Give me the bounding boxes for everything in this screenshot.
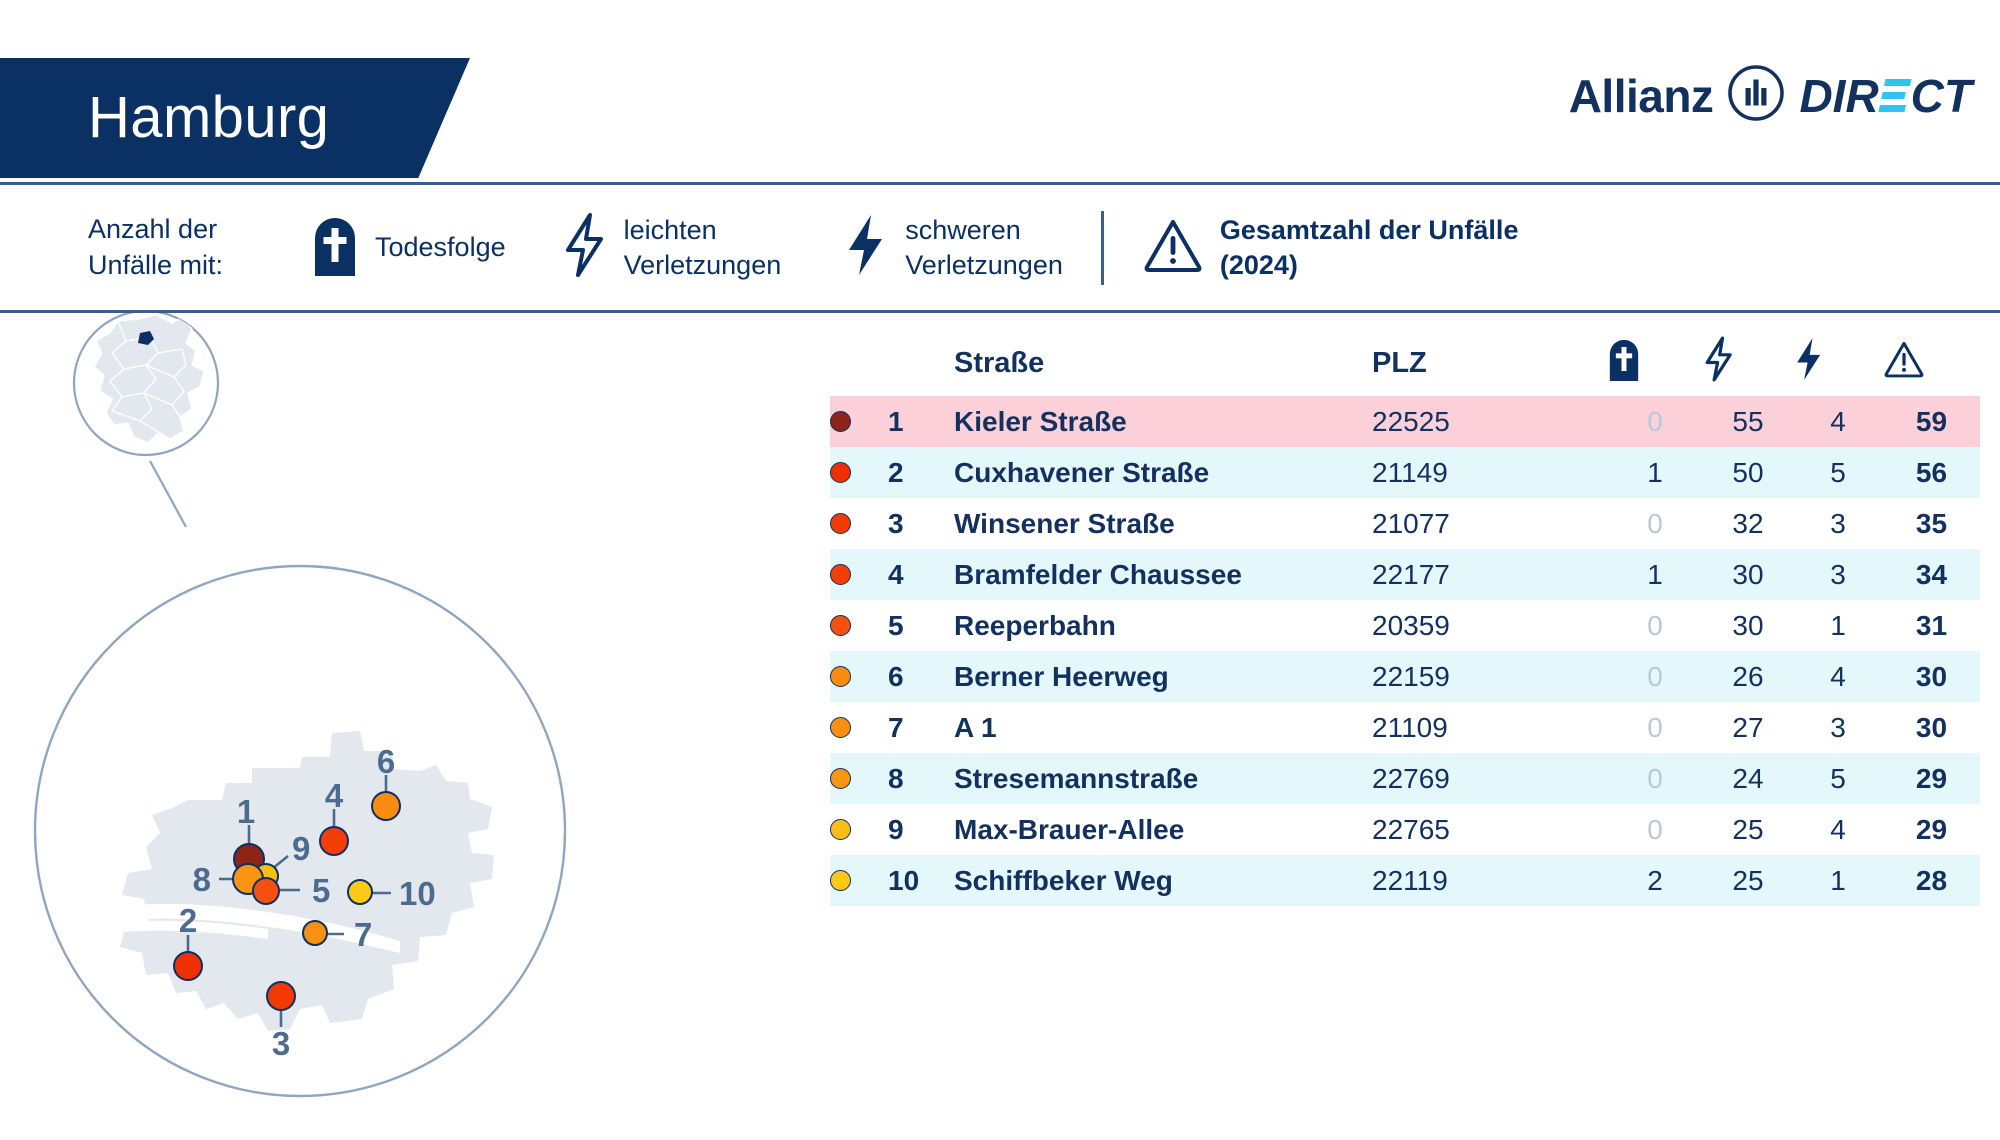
table-header-row: Straße PLZ [830, 330, 1980, 396]
total-count: 31 [1883, 600, 1980, 651]
legend-total-line2: (2024) [1220, 248, 1519, 283]
legend-bar: Anzahl der Unfälle mit: Todesfolge leich… [0, 185, 2000, 310]
header-plz: PLZ [1372, 330, 1607, 396]
street-name: Schiffbeker Weg [954, 855, 1372, 906]
table-row[interactable]: 10Schiffbeker Weg22119225128 [830, 855, 1980, 906]
deaths-count: 0 [1607, 498, 1703, 549]
light-injuries-count: 24 [1703, 753, 1793, 804]
table-row[interactable]: 2Cuxhavener Straße21149150556 [830, 447, 1980, 498]
total-count: 30 [1883, 702, 1980, 753]
severe-injuries-count: 5 [1793, 447, 1883, 498]
warning-triangle-icon [1142, 216, 1204, 279]
total-count: 35 [1883, 498, 1980, 549]
light-injuries-count: 50 [1703, 447, 1793, 498]
legend-item-light-injuries: leichten Verletzungen [562, 212, 782, 283]
light-injuries-count: 30 [1703, 600, 1793, 651]
rank-color-dot [830, 819, 851, 840]
table-row[interactable]: 5Reeperbahn20359030131 [830, 600, 1980, 651]
severe-injuries-count: 4 [1793, 651, 1883, 702]
inset-connector-line [150, 461, 186, 527]
table-row[interactable]: 6Berner Heerweg22159026430 [830, 651, 1980, 702]
street-name: A 1 [954, 702, 1372, 753]
table-row[interactable]: 4Bramfelder Chaussee22177130334 [830, 549, 1980, 600]
rank-color-dot [830, 666, 851, 687]
street-name: Kieler Straße [954, 396, 1372, 447]
postal-code: 21109 [1372, 702, 1607, 753]
street-name: Stresemannstraße [954, 753, 1372, 804]
street-name: Bramfelder Chaussee [954, 549, 1372, 600]
rank-number: 9 [888, 804, 954, 855]
map-marker-2[interactable] [174, 952, 202, 980]
total-count: 29 [1883, 804, 1980, 855]
map-panel: 1 2 3 4 5 6 7 8 9 10 [0, 313, 780, 1140]
light-injuries-count: 26 [1703, 651, 1793, 702]
legend-divider [1101, 211, 1104, 285]
header-street: Straße [954, 330, 1372, 396]
severe-injuries-count: 3 [1793, 498, 1883, 549]
map-label-8: 8 [193, 861, 211, 898]
rank-color-dot [830, 513, 851, 534]
rank-color-dot [830, 462, 851, 483]
table-row[interactable]: 8Stresemannstraße22769024529 [830, 753, 1980, 804]
rank-color-dot-cell [830, 600, 888, 651]
legend-item-deaths: Todesfolge [311, 214, 506, 281]
total-count: 56 [1883, 447, 1980, 498]
light-injuries-count: 32 [1703, 498, 1793, 549]
street-name: Cuxhavener Straße [954, 447, 1372, 498]
total-count: 34 [1883, 549, 1980, 600]
postal-code: 22119 [1372, 855, 1607, 906]
rank-color-dot-cell [830, 702, 888, 753]
light-injuries-count: 55 [1703, 396, 1793, 447]
bolt-outline-icon [1703, 336, 1735, 382]
legend-label-severe-injuries: schweren Verletzungen [905, 213, 1063, 282]
map-marker-6[interactable] [372, 792, 400, 820]
postal-code: 20359 [1372, 600, 1607, 651]
bolt-outline-icon [562, 212, 608, 283]
brand-direct-part2: CT [1911, 73, 1972, 119]
street-name: Reeperbahn [954, 600, 1372, 651]
postal-code: 22525 [1372, 396, 1607, 447]
rank-color-dot-cell [830, 804, 888, 855]
legend-severe-line1: schweren [905, 213, 1063, 248]
street-name: Berner Heerweg [954, 651, 1372, 702]
page-title: Hamburg [0, 89, 329, 147]
map-marker-4[interactable] [320, 827, 348, 855]
bolt-filled-icon [843, 212, 889, 283]
postal-code: 22177 [1372, 549, 1607, 600]
accident-ranking-table: Straße PLZ [830, 330, 1980, 906]
map-label-2: 2 [179, 902, 197, 939]
street-name: Winsener Straße [954, 498, 1372, 549]
rank-number: 7 [888, 702, 954, 753]
brand-direct-text: DIR CT [1799, 73, 1972, 119]
total-count: 59 [1883, 396, 1980, 447]
bolt-filled-icon [1793, 336, 1825, 382]
deaths-count: 0 [1607, 396, 1703, 447]
rank-number: 1 [888, 396, 954, 447]
table-row[interactable]: 9Max-Brauer-Allee22765025429 [830, 804, 1980, 855]
map-label-9: 9 [292, 830, 310, 867]
postal-code: 22765 [1372, 804, 1607, 855]
table-row[interactable]: 7A 121109027330 [830, 702, 1980, 753]
rank-color-dot [830, 870, 851, 891]
rank-color-dot [830, 768, 851, 789]
legend-total-line1: Gesamtzahl der Unfälle [1220, 213, 1519, 248]
deaths-count: 0 [1607, 600, 1703, 651]
severe-injuries-count: 5 [1793, 753, 1883, 804]
rank-number: 5 [888, 600, 954, 651]
header-severe-injuries [1793, 330, 1883, 396]
rank-color-dot [830, 411, 851, 432]
rank-color-dot [830, 564, 851, 585]
rank-number: 3 [888, 498, 954, 549]
street-name: Max-Brauer-Allee [954, 804, 1372, 855]
rank-color-dot-cell [830, 855, 888, 906]
total-count: 28 [1883, 855, 1980, 906]
tombstone-icon [311, 214, 359, 281]
rank-number: 6 [888, 651, 954, 702]
legend-intro: Anzahl der Unfälle mit: [88, 212, 303, 282]
header-rank-spacer [888, 330, 954, 396]
map-marker-7[interactable] [303, 921, 327, 945]
severe-injuries-count: 3 [1793, 702, 1883, 753]
map-label-3: 3 [272, 1025, 290, 1062]
rank-number: 8 [888, 753, 954, 804]
rank-color-dot [830, 615, 851, 636]
deaths-count: 2 [1607, 855, 1703, 906]
allianz-emblem-icon [1727, 64, 1785, 127]
postal-code: 22769 [1372, 753, 1607, 804]
legend-intro-line1: Anzahl der [88, 212, 303, 247]
legend-severe-line2: Verletzungen [905, 248, 1063, 283]
severe-injuries-count: 1 [1793, 855, 1883, 906]
allianz-direct-logo: Allianz DIR CT [1569, 64, 1972, 127]
tombstone-icon [1607, 337, 1641, 381]
deaths-count: 1 [1607, 549, 1703, 600]
legend-label-deaths: Todesfolge [375, 230, 506, 265]
map-label-1: 1 [237, 793, 255, 830]
rank-color-dot-cell [830, 447, 888, 498]
map-marker-10[interactable] [348, 880, 372, 904]
page-header: Hamburg Allianz DIR CT [0, 0, 2000, 185]
light-injuries-count: 27 [1703, 702, 1793, 753]
rank-number: 4 [888, 549, 954, 600]
deaths-count: 1 [1607, 447, 1703, 498]
ranking-table-panel: Straße PLZ [830, 330, 1980, 906]
map-marker-3[interactable] [267, 982, 295, 1010]
table-row[interactable]: 1Kieler Straße22525055459 [830, 396, 1980, 447]
legend-item-severe-injuries: schweren Verletzungen [843, 212, 1063, 283]
rank-number: 2 [888, 447, 954, 498]
severe-injuries-count: 4 [1793, 804, 1883, 855]
header-light-injuries [1703, 330, 1793, 396]
brand-direct-e-icon [1878, 79, 1911, 112]
header-total [1883, 330, 1980, 396]
map-label-7: 7 [354, 916, 372, 953]
total-count: 29 [1883, 753, 1980, 804]
germany-inset [74, 313, 218, 455]
legend-item-total: Gesamtzahl der Unfälle (2024) [1142, 213, 1519, 282]
light-injuries-count: 30 [1703, 549, 1793, 600]
legend-light-line1: leichten [624, 213, 782, 248]
legend-label-total: Gesamtzahl der Unfälle (2024) [1220, 213, 1519, 282]
postal-code: 21149 [1372, 447, 1607, 498]
map-label-4: 4 [325, 777, 344, 814]
legend-label-light-injuries: leichten Verletzungen [624, 213, 782, 282]
rank-color-dot-cell [830, 396, 888, 447]
severe-injuries-count: 4 [1793, 396, 1883, 447]
rank-number: 10 [888, 855, 954, 906]
map-label-6: 6 [377, 743, 395, 780]
deaths-count: 0 [1607, 753, 1703, 804]
postal-code: 21077 [1372, 498, 1607, 549]
header-deaths [1607, 330, 1703, 396]
rank-color-dot [830, 717, 851, 738]
light-injuries-count: 25 [1703, 804, 1793, 855]
brand-allianz-text: Allianz [1569, 73, 1714, 119]
postal-code: 22159 [1372, 651, 1607, 702]
severe-injuries-count: 1 [1793, 600, 1883, 651]
legend-intro-line2: Unfälle mit: [88, 248, 303, 283]
total-count: 30 [1883, 651, 1980, 702]
header-dot-spacer [830, 330, 888, 396]
brand-direct-part1: DIR [1799, 73, 1878, 119]
legend-light-line2: Verletzungen [624, 248, 782, 283]
region-banner: Hamburg [0, 58, 470, 178]
map-marker-5[interactable] [253, 878, 279, 904]
rank-color-dot-cell [830, 498, 888, 549]
deaths-count: 0 [1607, 651, 1703, 702]
hamburg-map: 1 2 3 4 5 6 7 8 9 10 [0, 313, 780, 1140]
table-row[interactable]: 3Winsener Straße21077032335 [830, 498, 1980, 549]
warning-triangle-icon [1883, 339, 1925, 379]
rank-color-dot-cell [830, 651, 888, 702]
rank-color-dot-cell [830, 753, 888, 804]
map-label-10: 10 [399, 875, 436, 912]
deaths-count: 0 [1607, 702, 1703, 753]
map-label-5: 5 [312, 872, 330, 909]
deaths-count: 0 [1607, 804, 1703, 855]
rank-color-dot-cell [830, 549, 888, 600]
severe-injuries-count: 3 [1793, 549, 1883, 600]
light-injuries-count: 25 [1703, 855, 1793, 906]
